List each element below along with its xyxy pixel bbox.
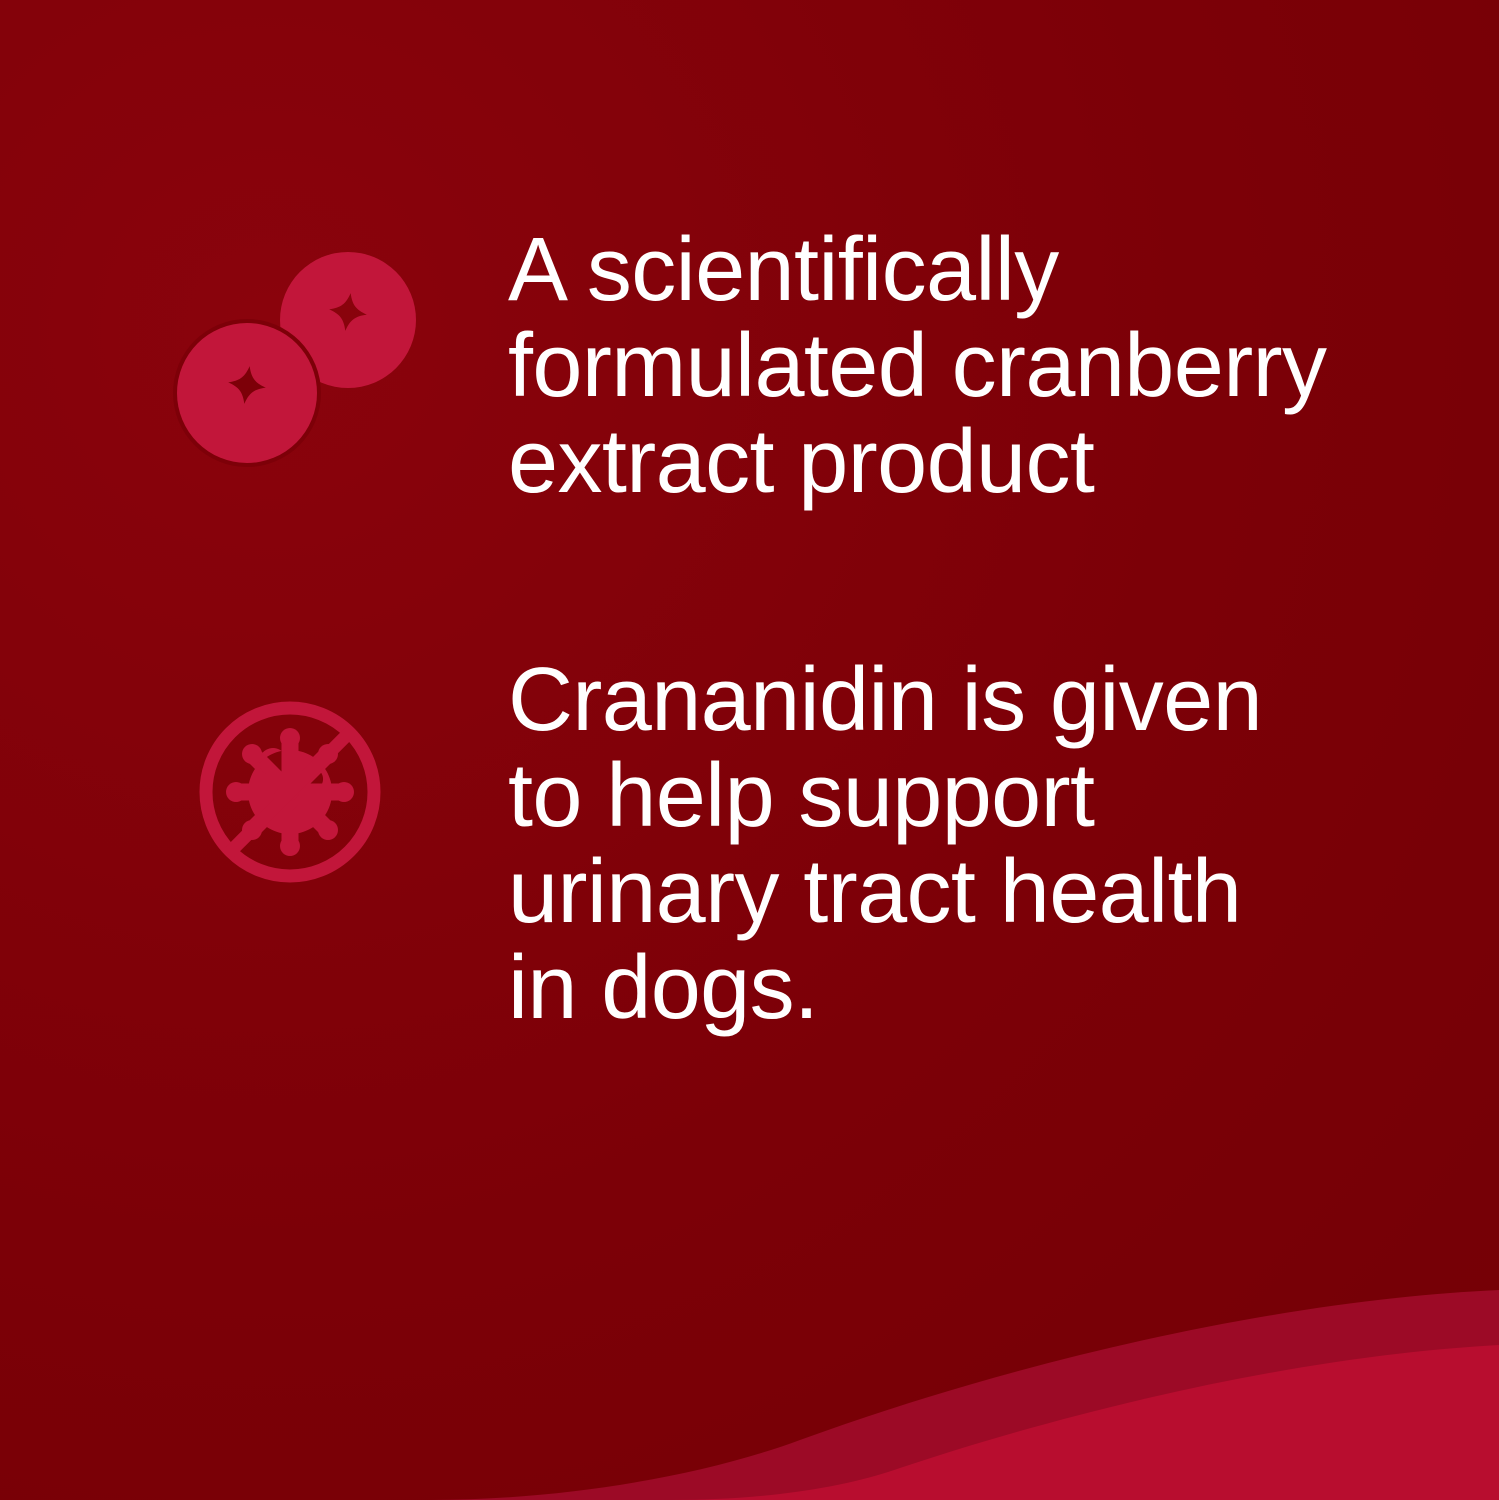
no-bacteria-icon — [160, 690, 418, 890]
background-wave-dark — [430, 1290, 1499, 1500]
feature-panel: A scientifically formulated cranberry ex… — [0, 0, 1499, 1500]
feature-text-urinary-health: Crananidin is given to help support urin… — [508, 652, 1308, 1036]
cranberries-icon — [160, 240, 418, 480]
background-wave-bright — [670, 1345, 1499, 1500]
feature-text-cranberry-extract: A scientifically formulated cranberry ex… — [508, 222, 1388, 510]
cranberry-lower — [177, 323, 317, 463]
feature-item-urinary-health: Crananidin is given to help support urin… — [160, 690, 1308, 1036]
feature-item-cranberry-extract: A scientifically formulated cranberry ex… — [160, 240, 1388, 510]
